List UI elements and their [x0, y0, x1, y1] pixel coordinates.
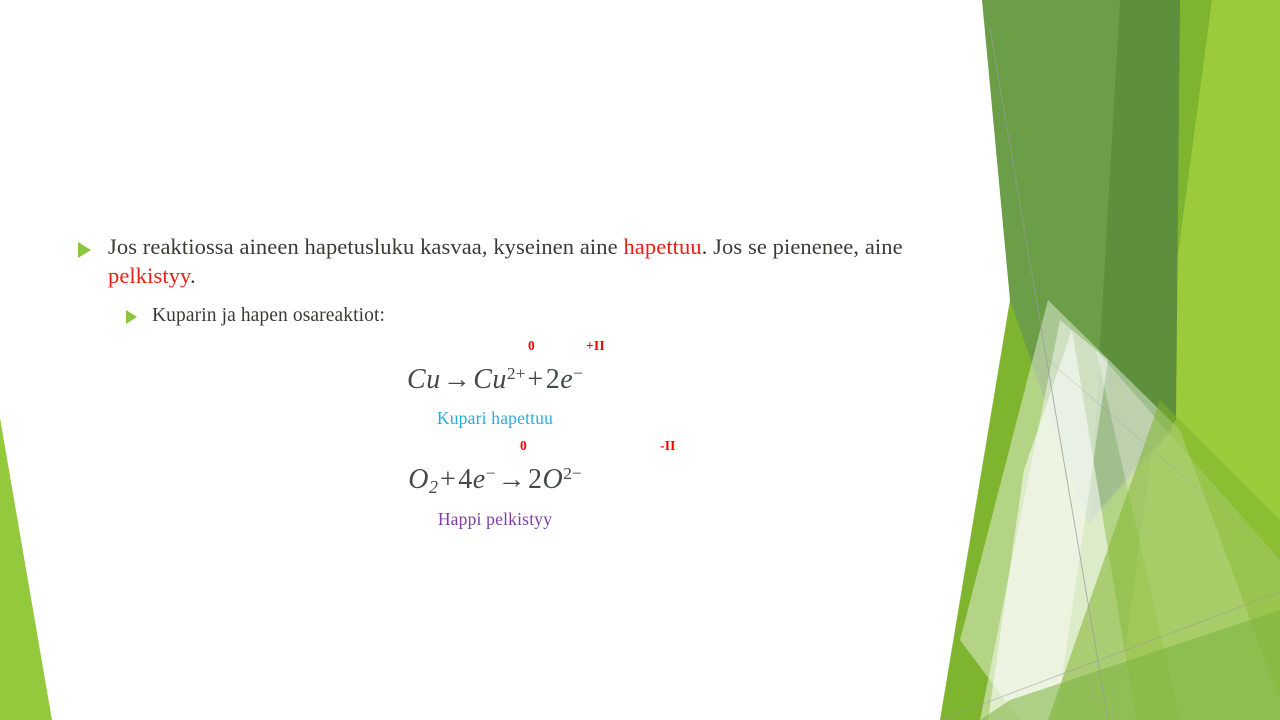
slide-content: Jos reaktiossa aineen hapetusluku kasvaa…	[0, 0, 990, 720]
decor-hairline-1	[990, 28, 1108, 720]
oxidation-number-label: 0	[520, 438, 527, 454]
eq1-electron-charge: −	[573, 364, 583, 383]
oxidation-number-row: 0 +II	[0, 338, 990, 356]
eq1-reactant: Cu	[407, 364, 441, 395]
triangle-right-icon	[78, 242, 91, 258]
decor-shape-olive-dark	[1090, 0, 1180, 520]
bullet-level2-text: Kuparin ja hapen osareaktiot:	[152, 303, 385, 328]
triangle-right-icon	[126, 310, 137, 324]
eq2-electron-symbol: e	[473, 464, 486, 495]
decor-shape-pale-3	[1096, 350, 1280, 720]
equation-expression: O2+4e−→2O2−	[0, 456, 990, 505]
l1-seg-4: .	[190, 263, 196, 288]
eq1-product-symbol: Cu	[473, 364, 507, 395]
eq2-electron-count: 4	[458, 464, 473, 495]
l1-keyword-pelkistyy: pelkistyy	[108, 263, 190, 288]
eq1-arrow: →	[441, 364, 474, 395]
l1-seg-2: . Jos se pienenee, aine	[702, 234, 903, 259]
bullet-level1: Jos reaktiossa aineen hapetusluku kasvaa…	[78, 233, 968, 290]
oxidation-number-label: +II	[586, 338, 605, 354]
eq2-plus: +	[438, 464, 458, 495]
l1-keyword-hapettuu: hapettuu	[623, 234, 701, 259]
eq2-arrow: →	[496, 464, 529, 495]
decor-shape-pale-2	[988, 330, 1136, 720]
oxidation-number-label: -II	[660, 438, 676, 454]
decor-shape-pale-4	[980, 320, 1108, 720]
eq1-electron-count: 2	[546, 364, 561, 395]
slide: Jos reaktiossa aineen hapetusluku kasvaa…	[0, 0, 1280, 720]
l1-seg-0: Jos reaktiossa aineen hapetusluku kasvaa…	[108, 234, 623, 259]
equation-copper-half-reaction: 0 +II Cu→Cu2++2e−	[0, 338, 990, 398]
decor-shape-green-overlay	[1048, 400, 1280, 720]
eq1-product-charge: 2+	[507, 364, 525, 383]
caption-happi-pelkistyy: Happi pelkistyy	[0, 508, 990, 530]
decor-hairline-3	[1048, 360, 1280, 560]
eq2-reactant-sub: 2	[429, 477, 438, 497]
bullet-level1-text: Jos reaktiossa aineen hapetusluku kasvaa…	[108, 233, 968, 290]
eq2-reactant-symbol: O	[408, 464, 429, 495]
eq1-plus: +	[525, 364, 545, 395]
decor-hairline-2	[940, 592, 1280, 720]
decor-shape-right-base	[1008, 0, 1280, 720]
eq2-product-symbol: O	[543, 464, 564, 495]
eq2-product-coeff: 2	[528, 464, 543, 495]
oxidation-number-row: 0 -II	[0, 438, 990, 456]
equation-oxygen-half-reaction: 0 -II O2+4e−→2O2−	[0, 438, 990, 505]
bullet-level2: Kuparin ja hapen osareaktiot:	[126, 303, 926, 328]
eq2-electron-charge: −	[486, 464, 496, 483]
caption-kupari-hapettuu: Kupari hapettuu	[0, 407, 990, 429]
decor-shape-green-overlay-2	[980, 610, 1280, 720]
eq1-electron-symbol: e	[560, 364, 573, 395]
decor-shape-olive-main	[982, 0, 1172, 525]
eq2-product-charge: 2−	[563, 464, 581, 483]
equation-expression: Cu→Cu2++2e−	[0, 356, 990, 398]
oxidation-number-label: 0	[528, 338, 535, 354]
decor-shape-pale-1	[960, 300, 1280, 720]
